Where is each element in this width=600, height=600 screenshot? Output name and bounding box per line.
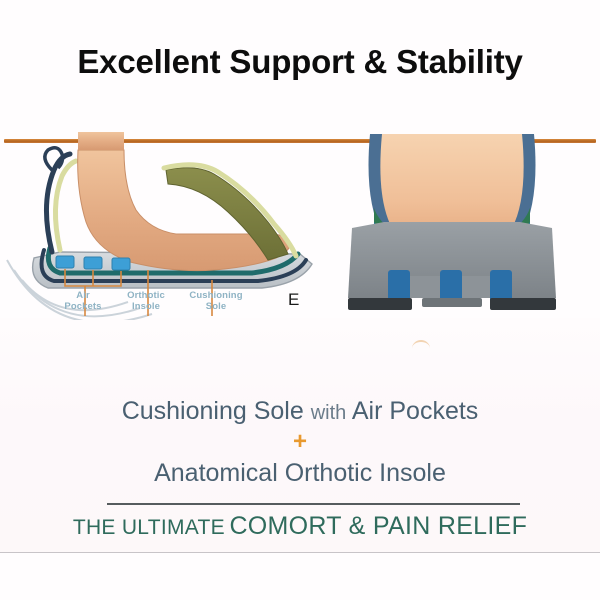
callout-orthotic-insole: Orthotic Insole (110, 290, 182, 312)
callout-orthotic-insole-line2: Insole (110, 301, 182, 312)
tagline: THE ULTIMATE COMORT & PAIN RELIEF (0, 512, 600, 541)
tagline-big-text: COMORT & PAIN RELIEF (229, 512, 527, 540)
leg-skin (78, 132, 124, 150)
callout-orthotic-insole-line1: Orthotic (110, 290, 182, 301)
benefit-cushioning-sole-text: Cushioning Sole (122, 397, 304, 425)
callout-air-pockets: Air Pockets (52, 290, 114, 312)
faint-orange-arc-artifact (412, 340, 430, 350)
callout-air-pockets-line2: Pockets (52, 301, 114, 312)
callout-cushioning-sole-line1: Cushioning (178, 290, 254, 301)
stray-letter-e: E (288, 290, 299, 310)
heel-counter-cream (55, 161, 76, 250)
benefit-air-pockets-text: Air Pockets (352, 397, 478, 425)
tagline-small-text: THE ULTIMATE (73, 516, 225, 539)
plus-separator-icon: + (0, 430, 600, 454)
panel-bottom-rule (0, 552, 600, 553)
benefit-with-word: with (311, 402, 347, 424)
page-title: Excellent Support & Stability (0, 40, 600, 84)
section-divider (107, 503, 520, 505)
callout-air-pockets-line1: Air (52, 290, 114, 301)
outsole-tread (348, 298, 556, 310)
benefit-line-orthotic-insole: Anatomical Orthotic Insole (0, 458, 600, 489)
shoe-rear-crosssection-illustration (330, 130, 590, 320)
callout-cushioning-sole: Cushioning Sole (178, 290, 254, 312)
callout-cushioning-sole-line2: Sole (178, 301, 254, 312)
air-pocket-blocks (56, 256, 130, 270)
promo-graphic: Excellent Support & Stability (0, 0, 600, 600)
benefit-line-cushioning-sole: Cushioning Sole with Air Pockets (0, 396, 600, 429)
